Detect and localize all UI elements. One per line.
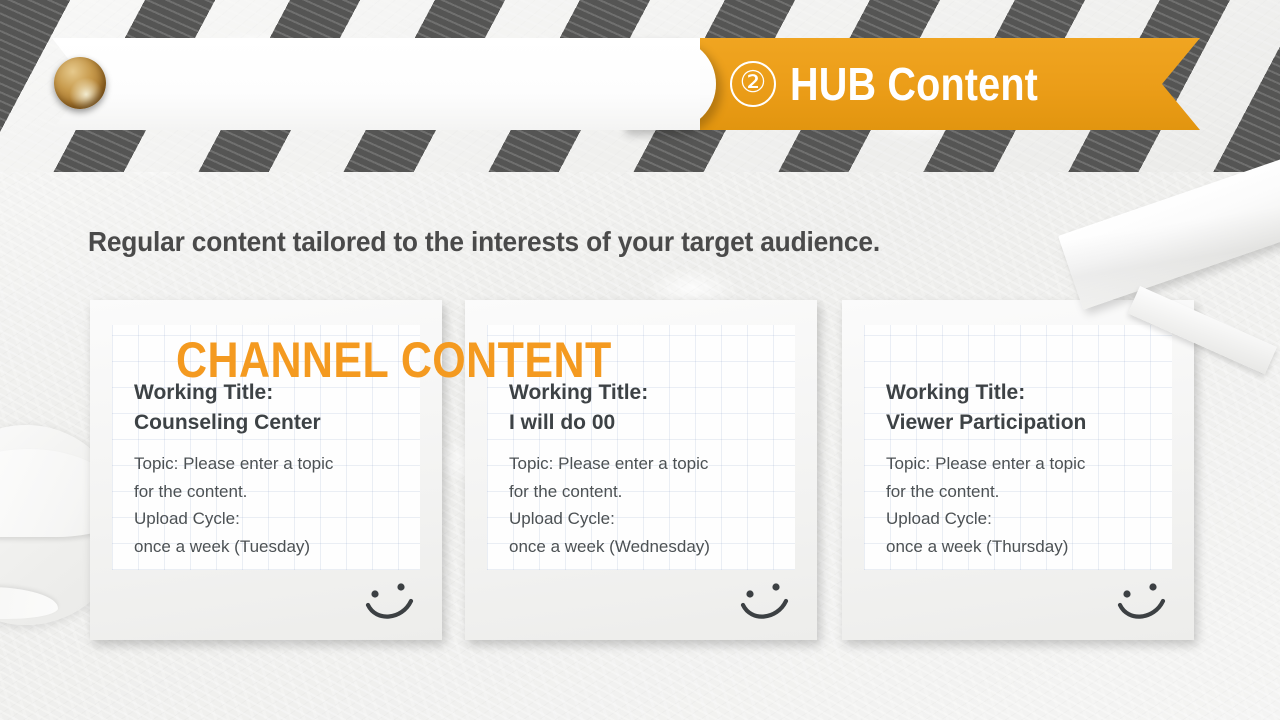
smiley-face-icon xyxy=(1114,578,1172,628)
channel-ribbon xyxy=(52,38,700,130)
card-meta: Topic: Please enter a topic for the cont… xyxy=(886,450,1174,561)
card-meta: Topic: Please enter a topic for the cont… xyxy=(509,450,797,561)
content-card[interactable]: Working Title: Viewer Participation Topi… xyxy=(842,300,1194,640)
smiley-face-icon xyxy=(362,578,420,628)
card-meta: Topic: Please enter a topic for the cont… xyxy=(134,450,422,561)
page-title: CHANNEL CONTENT xyxy=(176,331,612,389)
card-body: Working Title: Viewer Participation Topi… xyxy=(886,378,1174,561)
card-body: Working Title: Counseling Center Topic: … xyxy=(134,378,422,561)
gold-sphere-icon xyxy=(54,57,106,109)
slide-canvas: ② HUB Content CHANNEL CONTENT Regular co… xyxy=(0,0,1280,720)
card-title: Working Title: Viewer Participation xyxy=(886,378,1174,438)
subtitle-text: Regular content tailored to the interest… xyxy=(88,226,880,258)
smiley-face-icon xyxy=(737,578,795,628)
section-title: HUB Content xyxy=(790,57,1038,111)
circled-number-icon: ② xyxy=(730,61,776,107)
hub-content-ribbon-text: ② HUB Content xyxy=(730,57,1078,111)
card-body: Working Title: I will do 00 Topic: Pleas… xyxy=(509,378,797,561)
